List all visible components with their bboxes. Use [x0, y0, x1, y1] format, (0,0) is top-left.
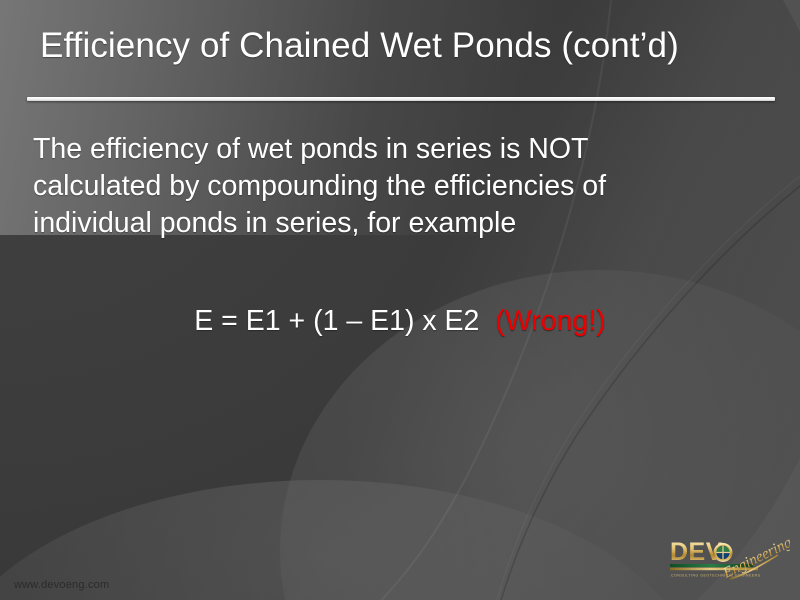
- slide-content: Efficiency of Chained Wet Ponds (cont’d)…: [0, 0, 800, 600]
- equation-annotation: (Wrong!): [495, 305, 605, 337]
- logo-globe-icon: [714, 543, 733, 562]
- title-divider: [27, 97, 775, 101]
- equation-line: E = E1 + (1 – E1) x E2(Wrong!): [0, 303, 800, 339]
- body-line: The efficiency of wet ponds in series is…: [33, 131, 773, 168]
- body-text: The efficiency of wet ponds in series is…: [33, 131, 773, 242]
- page-title: Efficiency of Chained Wet Ponds (cont’d): [40, 24, 770, 68]
- site-url-label: www.devoeng.com: [14, 579, 109, 591]
- body-line: individual ponds in series, for example: [33, 205, 773, 242]
- devo-engineering-logo: DEV CONSULTING GEOTECHNICAL ENGINEERS En…: [668, 532, 790, 588]
- logo-tagline: CONSULTING GEOTECHNICAL ENGINEERS: [671, 574, 761, 578]
- body-line: calculated by compounding the efficienci…: [33, 168, 773, 205]
- equation-formula: E = E1 + (1 – E1) x E2: [194, 305, 479, 337]
- presentation-slide: Efficiency of Chained Wet Ponds (cont’d)…: [0, 0, 800, 600]
